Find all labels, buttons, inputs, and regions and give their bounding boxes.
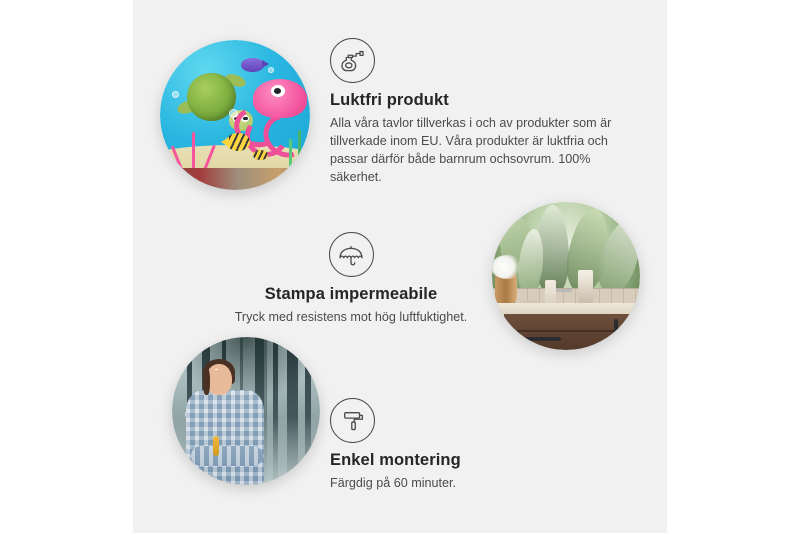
product-feature-panel: Luktfri produkt Alla våra tavlor tillver… [0,0,800,533]
small-fish-icon [253,150,268,161]
face [206,364,232,396]
installer-person [184,364,270,485]
bubble-icon [268,67,274,73]
no-spray-bottle-icon [330,38,375,83]
photo-bathroom-botanical [492,202,640,350]
feature-title: Stampa impermeabile [218,285,484,304]
drawer-handle [520,337,561,341]
forest-illustration [172,337,320,485]
photo-forest-installer [172,337,320,485]
purple-fish-icon [241,58,264,72]
ocean-illustration [160,40,310,190]
coral-branch [192,132,195,172]
octopus-head [253,79,307,118]
plaid-shirt [186,390,265,485]
feature-body: Alla våra tavlor tillverkas i och av pro… [330,115,618,187]
feature-body: Färgdig på 60 minuter. [330,475,530,493]
seaweed-icon [289,139,292,169]
feature-waterproof-print: Stampa impermeabile Tryck med resistens … [218,232,484,327]
octopus-eye [271,85,285,97]
bubble-icon [229,109,238,118]
umbrella-icon [329,232,374,277]
hair-side [203,368,210,395]
feature-body: Tryck med resistens mot hög luftfuktighe… [218,309,484,327]
coral-icon [175,130,214,172]
tool-grip [213,436,219,455]
paint-roller-icon [330,398,375,443]
ocean-foreground-strip [160,168,310,191]
feature-easy-mounting: Enkel montering Färgdig på 60 minuter. [330,398,530,493]
feature-title: Enkel montering [330,451,530,470]
crossed-arms [191,446,263,465]
door-handle [614,319,618,335]
bubble-icon [172,91,179,98]
bathroom-illustration [492,202,640,350]
feature-title: Luktfri produkt [330,91,618,110]
smile [215,369,218,370]
icon-row [218,232,484,277]
icon-row [330,38,618,83]
soap-dispenser [545,280,555,302]
candle-jar [578,270,593,303]
cabinet-seam [504,330,640,332]
yellow-fish-icon [226,133,250,151]
icon-row [330,398,530,443]
white-flowers [492,255,523,279]
wooden-vanity-cabinet [504,314,640,350]
feature-odor-free: Luktfri produkt Alla våra tavlor tillver… [330,38,618,187]
seaweed-icon [298,130,301,169]
photo-ocean-mural [160,40,310,190]
